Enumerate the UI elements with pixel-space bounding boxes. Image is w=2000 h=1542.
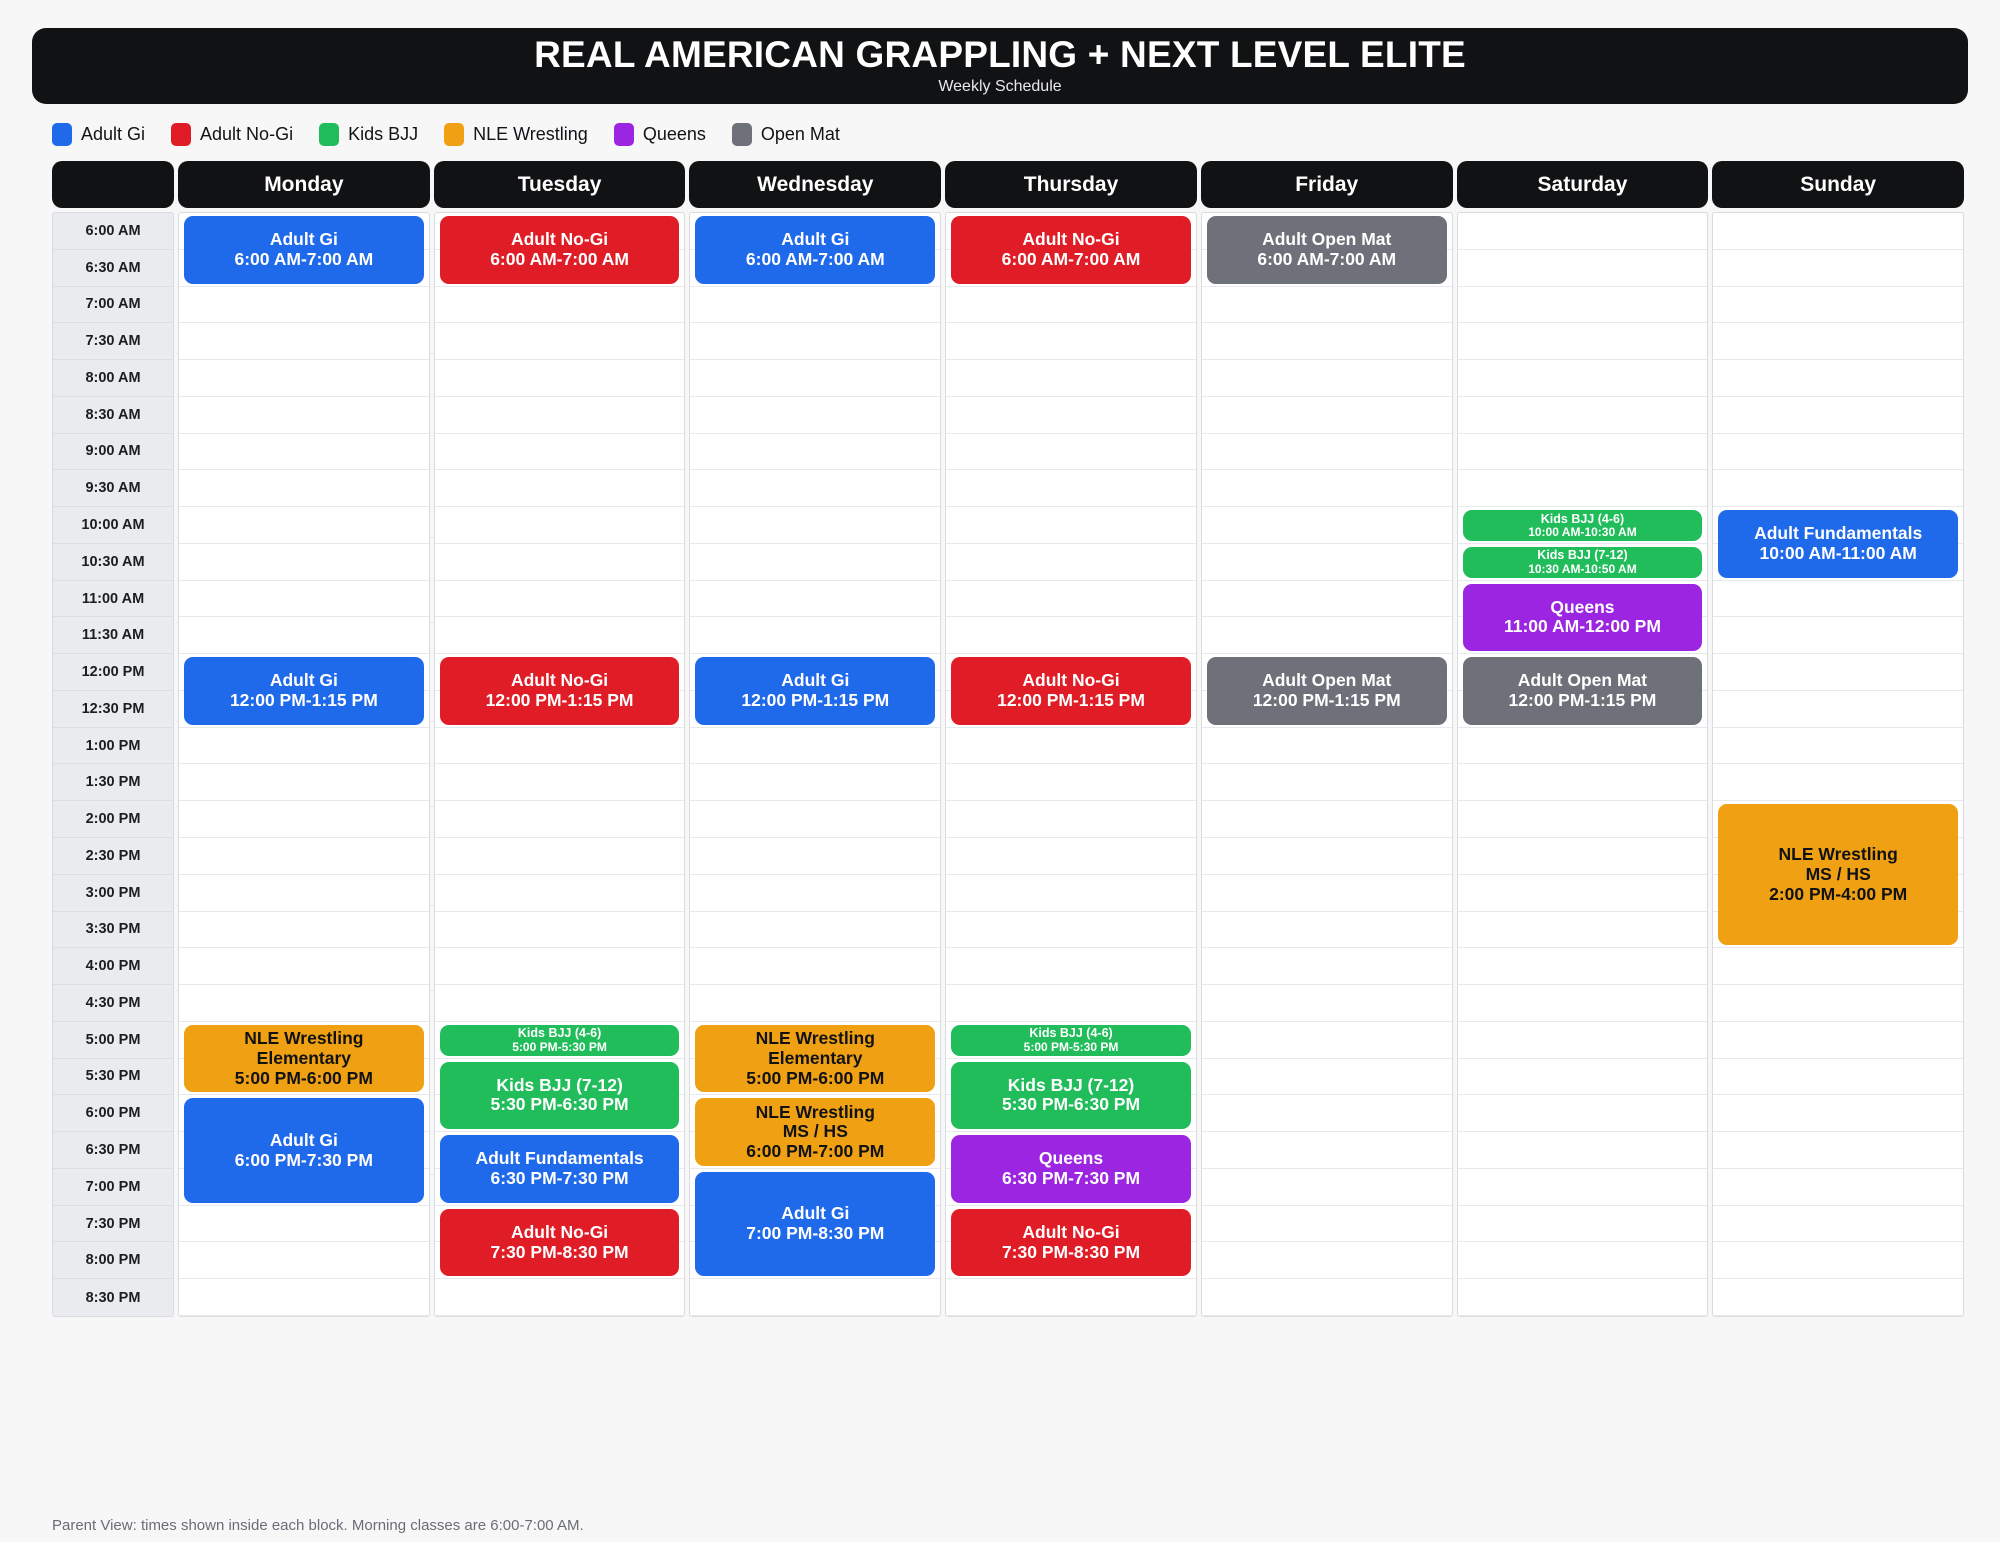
grid-slot-cell[interactable] — [179, 544, 429, 581]
event-time: 5:00 PM-5:30 PM — [512, 1041, 607, 1055]
grid-slot-cell[interactable] — [435, 323, 685, 360]
event-block[interactable]: Adult No-Gi7:30 PM-8:30 PM — [951, 1209, 1191, 1277]
grid-slot-cell[interactable] — [435, 360, 685, 397]
grid-slot-cell[interactable] — [946, 617, 1196, 654]
event-name: Adult Fundamentals — [475, 1149, 643, 1169]
event-time: 6:00 AM-7:00 AM — [1002, 250, 1141, 270]
grid-slot-cell[interactable] — [1458, 728, 1708, 765]
event-time: 6:00 AM-7:00 AM — [234, 250, 373, 270]
event-block[interactable]: Adult No-Gi6:00 AM-7:00 AM — [440, 216, 680, 284]
grid-slot-cell[interactable] — [179, 323, 429, 360]
legend-item-label: NLE Wrestling — [473, 124, 588, 145]
grid-slot-cell[interactable] — [1202, 360, 1452, 397]
grid-slot-cell[interactable] — [1713, 1279, 1963, 1316]
event-name: Adult Open Mat — [1262, 671, 1391, 691]
grid-slot-cell[interactable] — [179, 617, 429, 654]
event-time: 11:00 AM-12:00 PM — [1504, 617, 1661, 637]
grid-slot-cell[interactable] — [1458, 1059, 1708, 1096]
event-time: 12:00 PM-1:15 PM — [997, 691, 1145, 711]
grid-slot-cell[interactable] — [946, 287, 1196, 324]
event-block[interactable]: Adult Gi6:00 AM-7:00 AM — [184, 216, 424, 284]
event-block[interactable]: Adult No-Gi7:30 PM-8:30 PM — [440, 1209, 680, 1277]
grid-slot-cell[interactable] — [1713, 1132, 1963, 1169]
time-axis-column: 6:00 AM6:30 AM7:00 AM7:30 AM8:00 AM8:30 … — [52, 212, 174, 1317]
grid-slot-cell[interactable] — [435, 544, 685, 581]
time-slot-label: 8:00 AM — [53, 360, 173, 397]
grid-slot-cell[interactable] — [1202, 581, 1452, 618]
grid-slot-cell[interactable] — [690, 985, 940, 1022]
time-slot-label: 12:00 PM — [53, 654, 173, 691]
grid-slot-cell[interactable] — [690, 323, 940, 360]
day-column-monday: Adult Gi6:00 AM-7:00 AMAdult Gi12:00 PM-… — [178, 212, 430, 1317]
grid-slot-cell[interactable] — [1713, 1206, 1963, 1243]
event-block[interactable]: NLE WrestlingMS / HS2:00 PM-4:00 PM — [1718, 804, 1958, 945]
event-time: 6:30 PM-7:30 PM — [491, 1169, 629, 1189]
grid-slot-cell[interactable] — [1458, 1279, 1708, 1316]
grid-slot-cell[interactable] — [1202, 1095, 1452, 1132]
event-block[interactable]: Kids BJJ (4-6)10:00 AM-10:30 AM — [1463, 510, 1703, 541]
event-name: Kids BJJ (4-6) — [1029, 1026, 1112, 1040]
grid-slot-cell[interactable] — [1202, 287, 1452, 324]
grid-slot-cell[interactable] — [690, 728, 940, 765]
event-block[interactable]: Queens11:00 AM-12:00 PM — [1463, 584, 1703, 652]
event-name: Adult Gi — [270, 671, 338, 691]
event-name: Adult Fundamentals — [1754, 524, 1922, 544]
grid-slot-cell[interactable] — [690, 544, 940, 581]
day-column-sunday: Adult Fundamentals10:00 AM-11:00 AMNLE W… — [1712, 212, 1964, 1317]
grid-slot-cell[interactable] — [179, 1206, 429, 1243]
event-block[interactable]: Adult No-Gi6:00 AM-7:00 AM — [951, 216, 1191, 284]
time-slot-label: 6:30 PM — [53, 1132, 173, 1169]
event-block[interactable]: Kids BJJ (7-12)5:30 PM-6:30 PM — [440, 1062, 680, 1130]
grid-slot-cell[interactable] — [435, 287, 685, 324]
grid-slot-cell[interactable] — [946, 1279, 1196, 1316]
grid-slot-cell[interactable] — [1458, 434, 1708, 471]
grid-slot-cell[interactable] — [690, 801, 940, 838]
grid-slot-cell[interactable] — [435, 948, 685, 985]
grid-slot-cell[interactable] — [1458, 1242, 1708, 1279]
grid-slot-cell[interactable] — [946, 544, 1196, 581]
page-subtitle: Weekly Schedule — [938, 78, 1061, 96]
grid-slot-cell[interactable] — [179, 507, 429, 544]
legend: Adult GiAdult No-GiKids BJJNLE Wrestling… — [52, 121, 1968, 147]
event-time: 6:00 PM-7:00 PM — [746, 1142, 884, 1162]
grid-slot-cell[interactable] — [1202, 948, 1452, 985]
grid-slot-cell[interactable] — [690, 617, 940, 654]
time-slot-label: 2:00 PM — [53, 801, 173, 838]
grid-slot-cell[interactable] — [946, 434, 1196, 471]
grid-slot-cell[interactable] — [1202, 1279, 1452, 1316]
event-name: Adult Open Mat — [1518, 671, 1647, 691]
grid-slot-cell[interactable] — [179, 838, 429, 875]
grid-slot-cell[interactable] — [946, 397, 1196, 434]
grid-slot-cell[interactable] — [1458, 250, 1708, 287]
time-slot-label: 2:30 PM — [53, 838, 173, 875]
grid-slot-cell[interactable] — [179, 434, 429, 471]
grid-slot-cell[interactable] — [1202, 434, 1452, 471]
legend-item-label: Queens — [643, 124, 706, 145]
grid-slot-cell[interactable] — [1458, 287, 1708, 324]
event-block[interactable]: Adult Open Mat12:00 PM-1:15 PM — [1463, 657, 1703, 725]
grid-slot-cell[interactable] — [1202, 1206, 1452, 1243]
legend-color-swatch — [732, 123, 752, 146]
time-slot-label: 11:00 AM — [53, 581, 173, 618]
grid-slot-cell[interactable] — [946, 875, 1196, 912]
grid-slot-cell[interactable] — [179, 764, 429, 801]
grid-slot-cell[interactable] — [435, 470, 685, 507]
event-time: 6:00 AM-7:00 AM — [746, 250, 885, 270]
time-slot-label: 8:30 PM — [53, 1279, 173, 1316]
event-block[interactable]: Adult Gi6:00 AM-7:00 AM — [695, 216, 935, 284]
grid-slot-cell[interactable] — [1458, 1022, 1708, 1059]
grid-slot-cell[interactable] — [1458, 323, 1708, 360]
time-slot-label: 9:30 AM — [53, 470, 173, 507]
grid-slot-cell[interactable] — [179, 1279, 429, 1316]
grid-slot-cell[interactable] — [435, 985, 685, 1022]
event-block[interactable]: Adult Gi6:00 PM-7:30 PM — [184, 1098, 424, 1202]
grid-slot-cell[interactable] — [1713, 287, 1963, 324]
event-time: 12:00 PM-1:15 PM — [230, 691, 378, 711]
event-time: 10:00 AM-10:30 AM — [1528, 526, 1636, 540]
day-header-saturday[interactable]: Saturday — [1457, 161, 1709, 208]
event-name: Adult Gi — [270, 1131, 338, 1151]
time-slot-label: 3:00 PM — [53, 875, 173, 912]
event-name: Adult No-Gi — [511, 1223, 608, 1243]
grid-slot-cell[interactable] — [179, 1242, 429, 1279]
grid-slot-cell[interactable] — [1458, 948, 1708, 985]
grid-slot-cell[interactable] — [179, 360, 429, 397]
event-block[interactable]: NLE WrestlingElementary5:00 PM-6:00 PM — [184, 1025, 424, 1093]
legend-color-swatch — [614, 123, 634, 146]
grid-slot-cell[interactable] — [435, 764, 685, 801]
time-slot-label: 5:30 PM — [53, 1059, 173, 1096]
day-header-tuesday[interactable]: Tuesday — [434, 161, 686, 208]
grid-slot-cell[interactable] — [1713, 948, 1963, 985]
event-name: Adult No-Gi — [1022, 1223, 1119, 1243]
grid-slot-cell[interactable] — [435, 838, 685, 875]
grid-slot-cell[interactable] — [1202, 470, 1452, 507]
grid-slot-cell[interactable] — [1458, 875, 1708, 912]
header-time-column — [52, 161, 174, 208]
grid-slot-cell[interactable] — [435, 875, 685, 912]
grid-slot-cell[interactable] — [1458, 360, 1708, 397]
event-block[interactable]: Adult Fundamentals10:00 AM-11:00 AM — [1718, 510, 1958, 578]
day-header-friday[interactable]: Friday — [1201, 161, 1453, 208]
event-block[interactable]: Adult No-Gi12:00 PM-1:15 PM — [951, 657, 1191, 725]
legend-color-swatch — [319, 123, 339, 146]
grid-slot-cell[interactable] — [1458, 397, 1708, 434]
day-column-friday: Adult Open Mat6:00 AM-7:00 AMAdult Open … — [1201, 212, 1453, 1317]
grid-slot-cell[interactable] — [435, 507, 685, 544]
grid-slot-cell[interactable] — [1713, 764, 1963, 801]
grid-slot-cell[interactable] — [179, 581, 429, 618]
legend-item: Queens — [614, 123, 706, 146]
grid-slot-cell[interactable] — [690, 287, 940, 324]
grid-slot-cell[interactable] — [1458, 985, 1708, 1022]
event-block[interactable]: Queens6:30 PM-7:30 PM — [951, 1135, 1191, 1203]
schedule-grid: MondayTuesdayWednesdayThursdayFridaySatu… — [52, 161, 1964, 1317]
event-name: NLE WrestlingElementary — [244, 1029, 363, 1069]
time-slot-label: 6:00 AM — [53, 213, 173, 250]
event-name: Adult No-Gi — [511, 671, 608, 691]
day-column-thursday: Adult No-Gi6:00 AM-7:00 AMAdult No-Gi12:… — [945, 212, 1197, 1317]
event-name: Adult Gi — [781, 671, 849, 691]
grid-slot-cell[interactable] — [1202, 1132, 1452, 1169]
time-slot-label: 11:30 AM — [53, 617, 173, 654]
grid-slot-cell[interactable] — [946, 507, 1196, 544]
grid-slot-cell[interactable] — [946, 764, 1196, 801]
grid-slot-cell[interactable] — [1713, 250, 1963, 287]
grid-slot-cell[interactable] — [1458, 470, 1708, 507]
day-column-saturday: Kids BJJ (4-6)10:00 AM-10:30 AMKids BJJ … — [1457, 212, 1709, 1317]
grid-slot-cell[interactable] — [179, 985, 429, 1022]
legend-item: Adult No-Gi — [171, 123, 293, 146]
event-block[interactable]: Adult No-Gi12:00 PM-1:15 PM — [440, 657, 680, 725]
grid-slot-cell[interactable] — [435, 801, 685, 838]
time-slot-label: 8:00 PM — [53, 1242, 173, 1279]
grid-slot-cell[interactable] — [1202, 912, 1452, 949]
event-name: Kids BJJ (7-12) — [1537, 548, 1627, 562]
grid-slot-cell[interactable] — [1458, 801, 1708, 838]
time-slot-label: 1:30 PM — [53, 764, 173, 801]
grid-slot-cell[interactable] — [946, 948, 1196, 985]
page-title: REAL AMERICAN GRAPPLING + NEXT LEVEL ELI… — [534, 36, 1466, 75]
time-slot-label: 6:00 PM — [53, 1095, 173, 1132]
grid-slot-cell[interactable] — [1458, 764, 1708, 801]
event-block[interactable]: Kids BJJ (7-12)10:30 AM-10:50 AM — [1463, 547, 1703, 578]
time-slot-label: 10:30 AM — [53, 544, 173, 581]
grid-slot-cell[interactable] — [946, 912, 1196, 949]
event-name: NLE WrestlingMS / HS — [756, 1103, 875, 1143]
event-name: Kids BJJ (7-12) — [496, 1076, 622, 1096]
day-header-thursday[interactable]: Thursday — [945, 161, 1197, 208]
grid-slot-cell[interactable] — [1713, 728, 1963, 765]
event-name: Adult No-Gi — [1022, 230, 1119, 250]
grid-slot-cell[interactable] — [690, 507, 940, 544]
grid-slot-cell[interactable] — [946, 360, 1196, 397]
grid-slot-cell[interactable] — [435, 1279, 685, 1316]
time-slot-label: 7:30 AM — [53, 323, 173, 360]
grid-slot-cell[interactable] — [1202, 985, 1452, 1022]
grid-slot-cell[interactable] — [1202, 801, 1452, 838]
event-time: 6:00 AM-7:00 AM — [490, 250, 629, 270]
grid-slot-cell[interactable] — [179, 397, 429, 434]
event-time: 7:00 PM-8:30 PM — [746, 1224, 884, 1244]
grid-slot-cell[interactable] — [946, 801, 1196, 838]
grid-slot-cell[interactable] — [1713, 470, 1963, 507]
event-name: Adult No-Gi — [511, 230, 608, 250]
day-column-wednesday: Adult Gi6:00 AM-7:00 AMAdult Gi12:00 PM-… — [689, 212, 941, 1317]
grid-slot-cell[interactable] — [1202, 1242, 1452, 1279]
event-block[interactable]: NLE WrestlingElementary5:00 PM-6:00 PM — [695, 1025, 935, 1093]
event-name: Queens — [1039, 1149, 1103, 1169]
event-name: Queens — [1550, 598, 1614, 618]
event-time: 5:30 PM-6:30 PM — [1002, 1095, 1140, 1115]
event-block[interactable]: Kids BJJ (4-6)5:00 PM-5:30 PM — [951, 1025, 1191, 1056]
event-time: 5:00 PM-6:00 PM — [235, 1069, 373, 1089]
grid-slot-cell[interactable] — [690, 360, 940, 397]
legend-item: NLE Wrestling — [444, 123, 588, 146]
title-bar: REAL AMERICAN GRAPPLING + NEXT LEVEL ELI… — [32, 28, 1968, 104]
grid-slot-cell[interactable] — [1713, 617, 1963, 654]
grid-slot-cell[interactable] — [690, 470, 940, 507]
event-time: 6:00 PM-7:30 PM — [235, 1151, 373, 1171]
grid-slot-cell[interactable] — [179, 728, 429, 765]
event-time: 6:30 PM-7:30 PM — [1002, 1169, 1140, 1189]
grid-slot-cell[interactable] — [435, 728, 685, 765]
event-time: 10:30 AM-10:50 AM — [1528, 563, 1636, 577]
event-name: Adult Open Mat — [1262, 230, 1391, 250]
grid-slot-cell[interactable] — [946, 581, 1196, 618]
event-name: Kids BJJ (4-6) — [518, 1026, 601, 1040]
grid-slot-cell[interactable] — [1202, 728, 1452, 765]
event-time: 12:00 PM-1:15 PM — [1509, 691, 1657, 711]
grid-slot-cell[interactable] — [1713, 654, 1963, 691]
time-slot-label: 7:00 PM — [53, 1169, 173, 1206]
legend-item: Adult Gi — [52, 123, 145, 146]
event-time: 5:00 PM-6:00 PM — [746, 1069, 884, 1089]
grid-header-row: MondayTuesdayWednesdayThursdayFridaySatu… — [52, 161, 1964, 208]
event-name: Adult Gi — [781, 1204, 849, 1224]
grid-slot-cell[interactable] — [179, 948, 429, 985]
grid-slot-cell[interactable] — [946, 985, 1196, 1022]
grid-slot-cell[interactable] — [1458, 1132, 1708, 1169]
event-block[interactable]: Kids BJJ (4-6)5:00 PM-5:30 PM — [440, 1025, 680, 1056]
grid-slot-cell[interactable] — [1713, 1059, 1963, 1096]
time-slot-label: 7:00 AM — [53, 287, 173, 324]
event-name: NLE WrestlingMS / HS — [1779, 845, 1898, 885]
grid-slot-cell[interactable] — [1713, 1095, 1963, 1132]
grid-slot-cell[interactable] — [179, 287, 429, 324]
grid-slot-cell[interactable] — [435, 397, 685, 434]
event-time: 7:30 PM-8:30 PM — [491, 1243, 629, 1263]
grid-slot-cell[interactable] — [1202, 1059, 1452, 1096]
legend-item-label: Adult Gi — [81, 124, 145, 145]
day-header-monday[interactable]: Monday — [178, 161, 430, 208]
grid-slot-cell[interactable] — [435, 434, 685, 471]
event-block[interactable]: NLE WrestlingMS / HS6:00 PM-7:00 PM — [695, 1098, 935, 1166]
event-name: Kids BJJ (4-6) — [1541, 512, 1624, 526]
grid-slot-cell[interactable] — [435, 912, 685, 949]
grid-slot-cell[interactable] — [1202, 1169, 1452, 1206]
grid-slot-cell[interactable] — [1458, 912, 1708, 949]
grid-slot-cell[interactable] — [1713, 581, 1963, 618]
grid-slot-cell[interactable] — [1458, 838, 1708, 875]
grid-slot-cell[interactable] — [179, 875, 429, 912]
grid-slot-cell[interactable] — [435, 581, 685, 618]
event-time: 10:00 AM-11:00 AM — [1760, 544, 1917, 564]
grid-slot-cell[interactable] — [1458, 1169, 1708, 1206]
event-time: 12:00 PM-1:15 PM — [1253, 691, 1401, 711]
time-slot-label: 12:30 PM — [53, 691, 173, 728]
event-time: 5:00 PM-5:30 PM — [1024, 1041, 1119, 1055]
grid-slot-cell[interactable] — [690, 397, 940, 434]
time-slot-label: 4:00 PM — [53, 948, 173, 985]
event-name: NLE WrestlingElementary — [756, 1029, 875, 1069]
grid-slot-cell[interactable] — [1202, 838, 1452, 875]
grid-slot-cell[interactable] — [1202, 507, 1452, 544]
time-slot-label: 1:00 PM — [53, 728, 173, 765]
time-slot-label: 9:00 AM — [53, 434, 173, 471]
grid-slot-cell[interactable] — [690, 1279, 940, 1316]
event-block[interactable]: Adult Open Mat6:00 AM-7:00 AM — [1207, 216, 1447, 284]
event-block[interactable]: Adult Gi12:00 PM-1:15 PM — [695, 657, 935, 725]
grid-slot-cell[interactable] — [1202, 875, 1452, 912]
event-time: 2:00 PM-4:00 PM — [1769, 885, 1907, 905]
grid-slot-cell[interactable] — [1202, 617, 1452, 654]
grid-slot-cell[interactable] — [690, 434, 940, 471]
event-block[interactable]: Adult Fundamentals6:30 PM-7:30 PM — [440, 1135, 680, 1203]
grid-slot-cell[interactable] — [179, 801, 429, 838]
grid-slot-cell[interactable] — [1202, 1022, 1452, 1059]
legend-color-swatch — [52, 123, 72, 146]
grid-slot-cell[interactable] — [179, 470, 429, 507]
grid-slot-cell[interactable] — [1202, 397, 1452, 434]
event-name: Adult Gi — [781, 230, 849, 250]
event-block[interactable]: Kids BJJ (7-12)5:30 PM-6:30 PM — [951, 1062, 1191, 1130]
grid-slot-cell[interactable] — [690, 764, 940, 801]
grid-slot-cell[interactable] — [690, 581, 940, 618]
grid-slot-cell[interactable] — [1713, 1242, 1963, 1279]
event-block[interactable]: Adult Gi12:00 PM-1:15 PM — [184, 657, 424, 725]
time-slot-label: 5:00 PM — [53, 1022, 173, 1059]
legend-item: Open Mat — [732, 123, 840, 146]
grid-slot-cell[interactable] — [1713, 985, 1963, 1022]
grid-slot-cell[interactable] — [1713, 691, 1963, 728]
grid-slot-cell[interactable] — [1713, 213, 1963, 250]
grid-body-row: 6:00 AM6:30 AM7:00 AM7:30 AM8:00 AM8:30 … — [52, 212, 1964, 1317]
grid-slot-cell[interactable] — [1713, 397, 1963, 434]
event-block[interactable]: Adult Gi7:00 PM-8:30 PM — [695, 1172, 935, 1276]
event-time: 7:30 PM-8:30 PM — [1002, 1243, 1140, 1263]
event-block[interactable]: Adult Open Mat12:00 PM-1:15 PM — [1207, 657, 1447, 725]
grid-slot-cell[interactable] — [1713, 1169, 1963, 1206]
grid-slot-cell[interactable] — [690, 912, 940, 949]
grid-slot-cell[interactable] — [946, 838, 1196, 875]
legend-color-swatch — [171, 123, 191, 146]
event-name: Kids BJJ (7-12) — [1008, 1076, 1134, 1096]
grid-slot-cell[interactable] — [1713, 323, 1963, 360]
grid-slot-cell[interactable] — [1202, 323, 1452, 360]
grid-slot-cell[interactable] — [1458, 1206, 1708, 1243]
grid-slot-cell[interactable] — [435, 617, 685, 654]
grid-slot-cell[interactable] — [690, 875, 940, 912]
legend-item: Kids BJJ — [319, 123, 418, 146]
grid-slot-cell[interactable] — [1458, 1095, 1708, 1132]
grid-slot-cell[interactable] — [946, 470, 1196, 507]
legend-item-label: Kids BJJ — [348, 124, 418, 145]
event-time: 12:00 PM-1:15 PM — [486, 691, 634, 711]
time-slot-label: 10:00 AM — [53, 507, 173, 544]
legend-item-label: Adult No-Gi — [200, 124, 293, 145]
day-column-tuesday: Adult No-Gi6:00 AM-7:00 AMAdult No-Gi12:… — [434, 212, 686, 1317]
grid-slot-cell[interactable] — [1202, 544, 1452, 581]
grid-slot-cell[interactable] — [690, 948, 940, 985]
grid-slot-cell[interactable] — [179, 912, 429, 949]
grid-slot-cell[interactable] — [1202, 764, 1452, 801]
day-header-sunday[interactable]: Sunday — [1712, 161, 1964, 208]
grid-slot-cell[interactable] — [946, 728, 1196, 765]
time-slot-label: 6:30 AM — [53, 250, 173, 287]
grid-slot-cell[interactable] — [946, 323, 1196, 360]
grid-slot-cell[interactable] — [690, 838, 940, 875]
grid-slot-cell[interactable] — [1713, 434, 1963, 471]
day-header-wednesday[interactable]: Wednesday — [689, 161, 941, 208]
grid-slot-cell[interactable] — [1713, 1022, 1963, 1059]
legend-color-swatch — [444, 123, 464, 146]
grid-slot-cell[interactable] — [1713, 360, 1963, 397]
grid-slot-cell[interactable] — [1458, 213, 1708, 250]
